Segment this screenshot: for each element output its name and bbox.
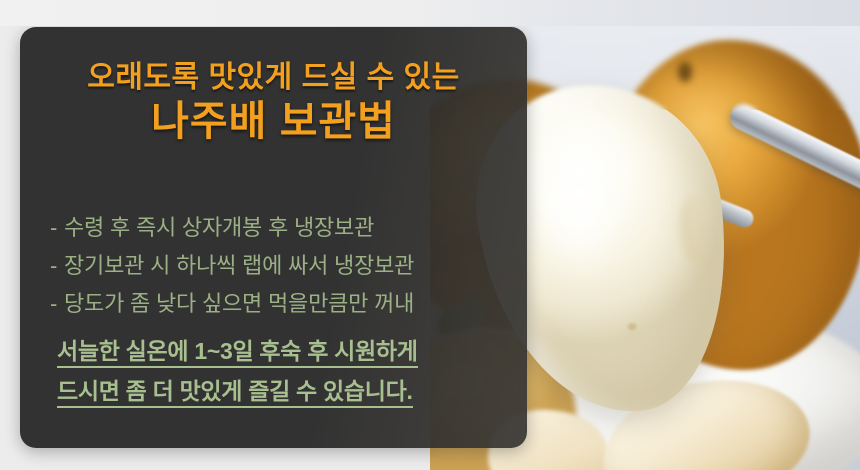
emphasis-line: 드시면 좀 더 맛있게 즐길 수 있습니다. [57, 371, 509, 411]
emphasis-text: 서늘한 실온에 1~3일 후숙 후 시원하게 [57, 338, 418, 368]
bullet-dash-icon: - [50, 209, 64, 247]
panel-title: 오래도록 맛있게 드실 수 있는 나주배 보관법 [20, 61, 527, 145]
title-line-2: 나주배 보관법 [20, 97, 527, 145]
product-storage-banner: 오래도록 맛있게 드실 수 있는 나주배 보관법 -수령 후 즉시 상자개봉 후… [0, 0, 860, 470]
storage-tips-list: -수령 후 즉시 상자개봉 후 냉장보관 -장기보관 시 하나씩 랩에 싸서 냉… [50, 209, 509, 411]
storage-tip-text: 당도가 좀 낮다 싶으면 먹을만큼만 꺼내 [64, 291, 414, 316]
pear-stem [678, 62, 692, 82]
title-line-1: 오래도록 맛있게 드실 수 있는 [20, 61, 527, 95]
storage-tip-item: -당도가 좀 낮다 싶으면 먹을만큼만 꺼내 [50, 285, 509, 323]
bullet-dash-icon: - [50, 247, 64, 285]
storage-tip-item: -수령 후 즉시 상자개봉 후 냉장보관 [50, 209, 509, 247]
bullet-dash-icon: - [50, 285, 64, 323]
emphasis-block: 서늘한 실온에 1~3일 후숙 후 시원하게 드시면 좀 더 맛있게 즐길 수 … [57, 331, 509, 411]
slice-seed-speck [627, 323, 637, 331]
storage-tip-text: 장기보관 시 하나씩 랩에 싸서 냉장보관 [64, 253, 414, 278]
emphasis-line: 서늘한 실온에 1~3일 후숙 후 시원하게 [57, 331, 509, 371]
storage-tip-text: 수령 후 즉시 상자개봉 후 냉장보관 [64, 215, 374, 240]
slice-highlight [507, 116, 648, 309]
storage-tip-item: -장기보관 시 하나씩 랩에 싸서 냉장보관 [50, 247, 509, 285]
info-panel: 오래도록 맛있게 드실 수 있는 나주배 보관법 -수령 후 즉시 상자개봉 후… [20, 27, 527, 448]
slice-core-notch [676, 195, 714, 268]
emphasis-text: 드시면 좀 더 맛있게 즐길 수 있습니다. [57, 378, 413, 408]
